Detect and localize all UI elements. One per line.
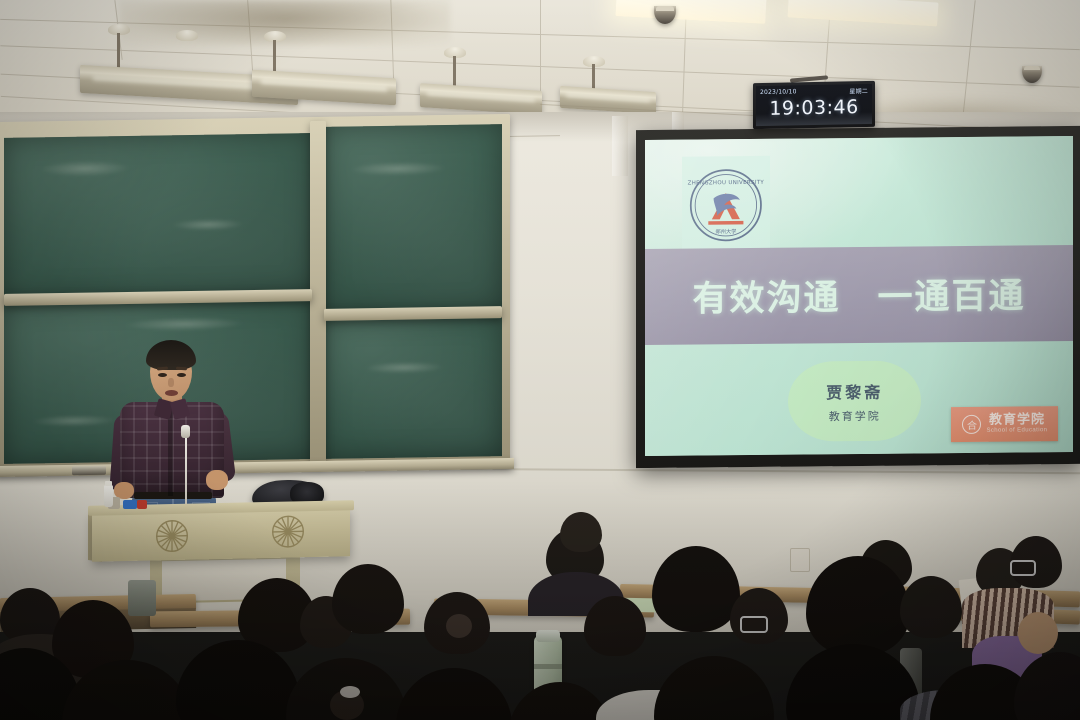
blackboard-panel-top-left [4, 133, 312, 298]
lecturer-hair [146, 340, 196, 370]
wall-socket[interactable] [790, 548, 810, 572]
audience-head-mid-11 [900, 576, 962, 638]
presenter-name: 贾黎斋 [826, 378, 883, 403]
wall-pillar-1 [612, 116, 628, 176]
school-logo-en: School of Education [986, 427, 1047, 434]
university-seal-logo: ZHENGZHOU UNIVERSITY 郑州大学 [682, 156, 770, 255]
lecturer-belt [134, 492, 212, 499]
microphone-stand [185, 432, 187, 510]
eyeglasses-icon-1 [1010, 560, 1036, 576]
water-bottle [104, 485, 113, 507]
podium-rosette-left [154, 518, 190, 555]
audience-hands [1018, 612, 1058, 654]
presenter-department: 教育学院 [829, 407, 881, 423]
podium-blue-item [123, 500, 137, 509]
clock-screen: 2023/10/10 星期二 19:03:46 [756, 84, 872, 126]
lecturer-eye-right [177, 373, 186, 377]
chalk-tray-clip [72, 466, 106, 476]
blackboard-center-rail [310, 121, 326, 465]
audience-head-mid-7 [584, 596, 646, 656]
pendant-mount-2 [176, 30, 198, 41]
podium-rosette-right [270, 513, 306, 550]
clock-date: 2023/10/10 [760, 88, 797, 96]
lecture-hall-photo: ZHENGZHOU UNIVERSITY 郑州大学 有效沟通 一通百通 贾黎斋 … [0, 0, 1080, 720]
projection-screen[interactable]: ZHENGZHOU UNIVERSITY 郑州大学 有效沟通 一通百通 贾黎斋 … [636, 126, 1080, 468]
hair-tie-icon-2 [340, 686, 360, 698]
audience-head-front-3 [176, 640, 300, 720]
blackboard-panel-bottom-right [324, 316, 502, 459]
lecturer-mouth [165, 390, 178, 396]
school-logo-cn: 教育学院 [989, 413, 1045, 427]
school-logo-mark: 合 [962, 415, 981, 434]
thermos-cap [536, 630, 560, 642]
audience-head-front-7 [654, 656, 774, 720]
podium-front-face [92, 508, 350, 561]
microphone-icon [181, 425, 190, 438]
presentation-slide: ZHENGZHOU UNIVERSITY 郑州大学 有效沟通 一通百通 贾黎斋 … [645, 136, 1073, 456]
blackboard [0, 114, 510, 474]
svg-text:ZHENGZHOU UNIVERSITY: ZHENGZHOU UNIVERSITY [687, 180, 764, 187]
school-of-education-logo: 合 教育学院 School of Education [951, 406, 1058, 442]
lecturer-hand-right [206, 470, 228, 490]
digital-clock-display: 2023/10/10 星期二 19:03:46 [753, 81, 875, 129]
school-logo-text: 教育学院 School of Education [986, 413, 1047, 434]
lecturer-shirt-placket [168, 410, 173, 496]
eyeglasses-icon-2 [740, 616, 768, 633]
audience-head-front-5 [396, 668, 512, 720]
audience-head-back-2 [560, 512, 602, 552]
podium-red-item [137, 500, 147, 509]
hair-bun-1 [446, 614, 472, 638]
lecturer-nose [168, 378, 174, 387]
slide-title: 有效沟通 一通百通 [645, 250, 1073, 339]
water-bottle-cap [105, 481, 112, 486]
clock-weekday: 星期二 [849, 86, 868, 95]
trash-bin [128, 580, 156, 616]
clock-time: 19:03:46 [756, 96, 872, 120]
projection-screen-surface: ZHENGZHOU UNIVERSITY 郑州大学 有效沟通 一通百通 贾黎斋 … [645, 136, 1073, 456]
blackboard-panel-top-right [324, 124, 502, 313]
presenter-nameplate: 贾黎斋 教育学院 [788, 360, 921, 442]
lecturer-eye-left [158, 373, 167, 377]
svg-text:郑州大学: 郑州大学 [715, 228, 736, 236]
thermos-band [534, 664, 562, 669]
